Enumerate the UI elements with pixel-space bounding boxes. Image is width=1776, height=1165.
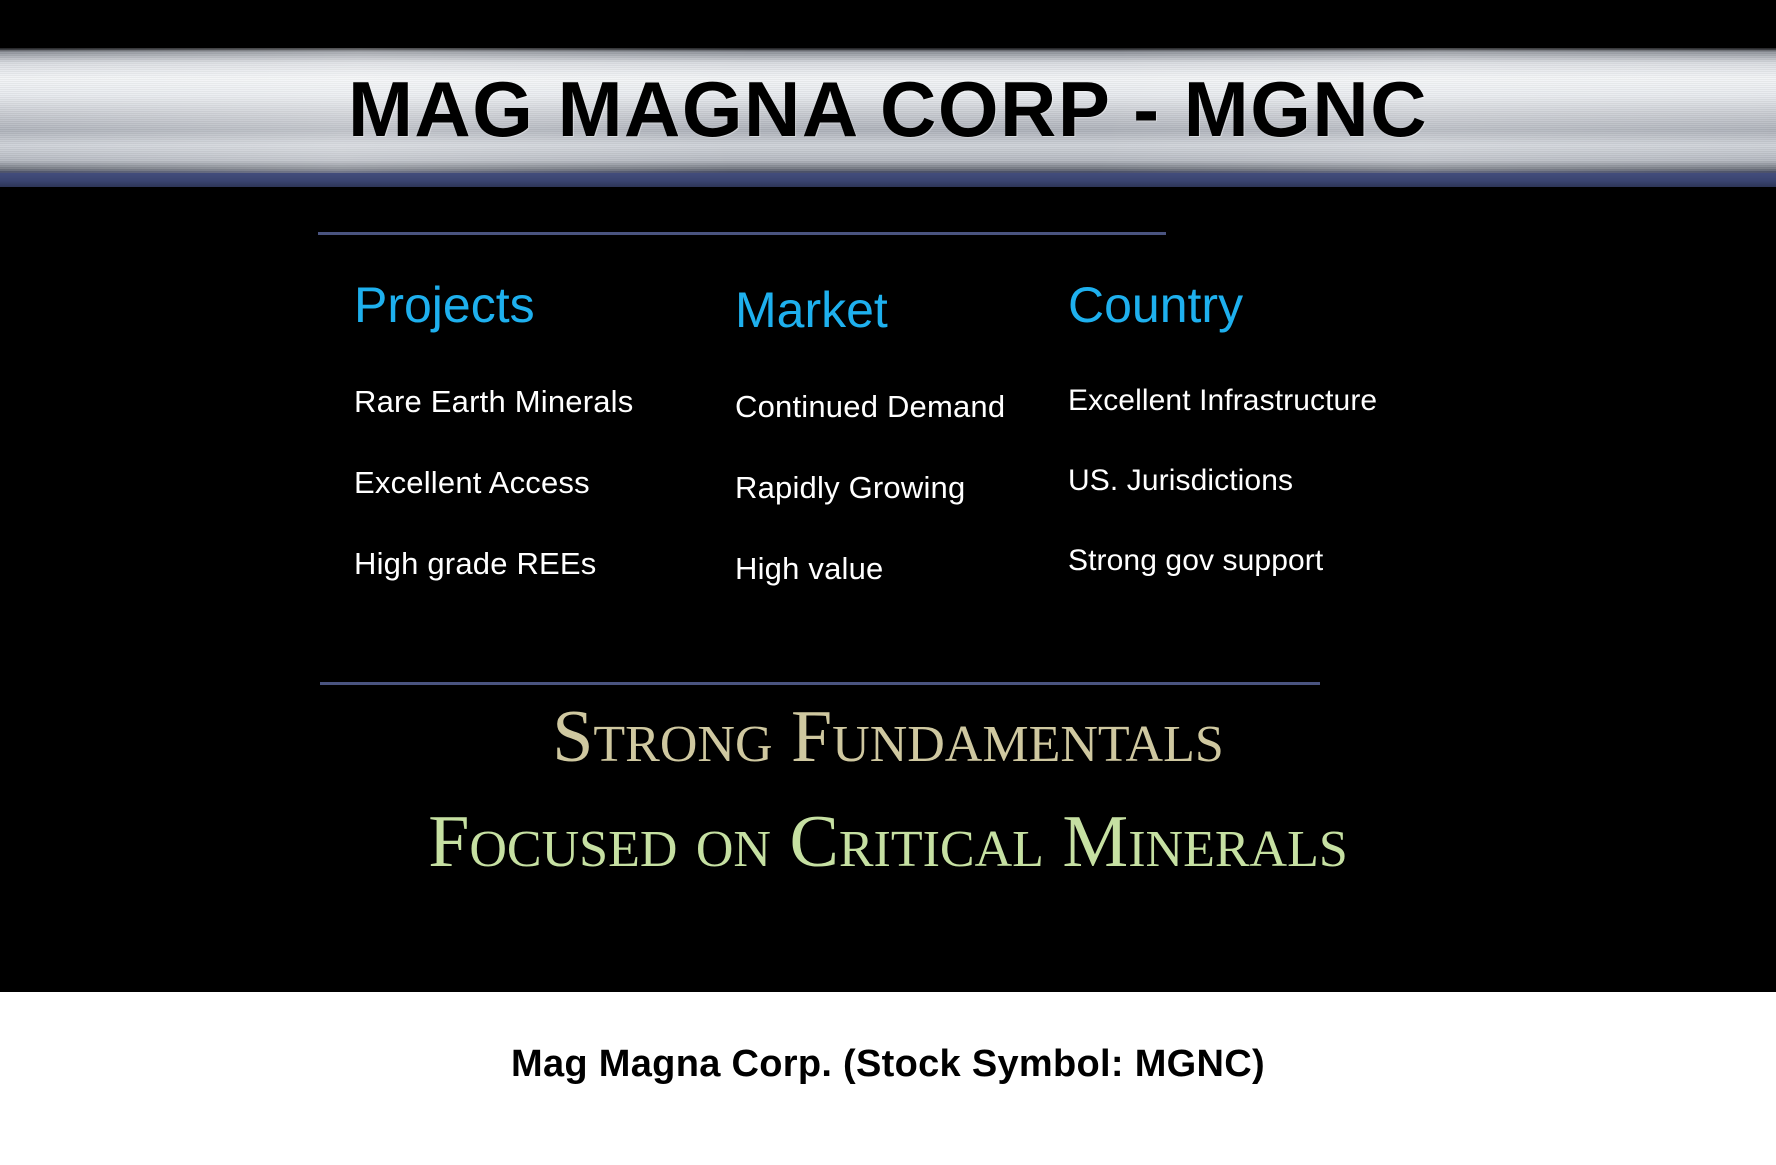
list-item: Excellent Infrastructure <box>1068 386 1377 416</box>
column-heading-projects: Projects <box>354 280 633 330</box>
banner-accent-strip <box>0 173 1776 187</box>
column-heading-country: Country <box>1068 280 1377 330</box>
divider-bottom <box>320 682 1320 685</box>
three-column-section: Projects Rare Earth Minerals Excellent A… <box>0 280 1776 660</box>
column-list-market: Continued Demand Rapidly Growing High va… <box>735 391 1005 584</box>
slide-root: MAG MAGNA CORP - MGNC Projects Rare Eart… <box>0 0 1776 1165</box>
page-title: MAG MAGNA CORP - MGNC <box>0 48 1776 173</box>
title-banner: MAG MAGNA CORP - MGNC <box>0 48 1776 173</box>
list-item: Strong gov support <box>1068 546 1377 576</box>
footer-company-label: Mag Magna Corp. (Stock Symbol: MGNC) <box>0 1043 1776 1086</box>
tagline-line-1: Strong Fundamentals <box>0 700 1776 774</box>
divider-top <box>318 232 1166 235</box>
column-market: Market Continued Demand Rapidly Growing … <box>735 285 1005 634</box>
tagline-line-2: Focused on Critical Minerals <box>0 805 1776 879</box>
top-black-margin <box>0 0 1776 48</box>
list-item: US. Jurisdictions <box>1068 466 1377 496</box>
column-list-projects: Rare Earth Minerals Excellent Access Hig… <box>354 386 633 579</box>
list-item: Rapidly Growing <box>735 472 1005 503</box>
column-country: Country Excellent Infrastructure US. Jur… <box>1068 280 1377 626</box>
column-projects: Projects Rare Earth Minerals Excellent A… <box>354 280 633 629</box>
column-heading-market: Market <box>735 285 1005 335</box>
list-item: High grade REEs <box>354 548 633 579</box>
list-item: Excellent Access <box>354 467 633 498</box>
list-item: Rare Earth Minerals <box>354 386 633 417</box>
list-item: High value <box>735 553 1005 584</box>
column-list-country: Excellent Infrastructure US. Jurisdictio… <box>1068 386 1377 576</box>
list-item: Continued Demand <box>735 391 1005 422</box>
